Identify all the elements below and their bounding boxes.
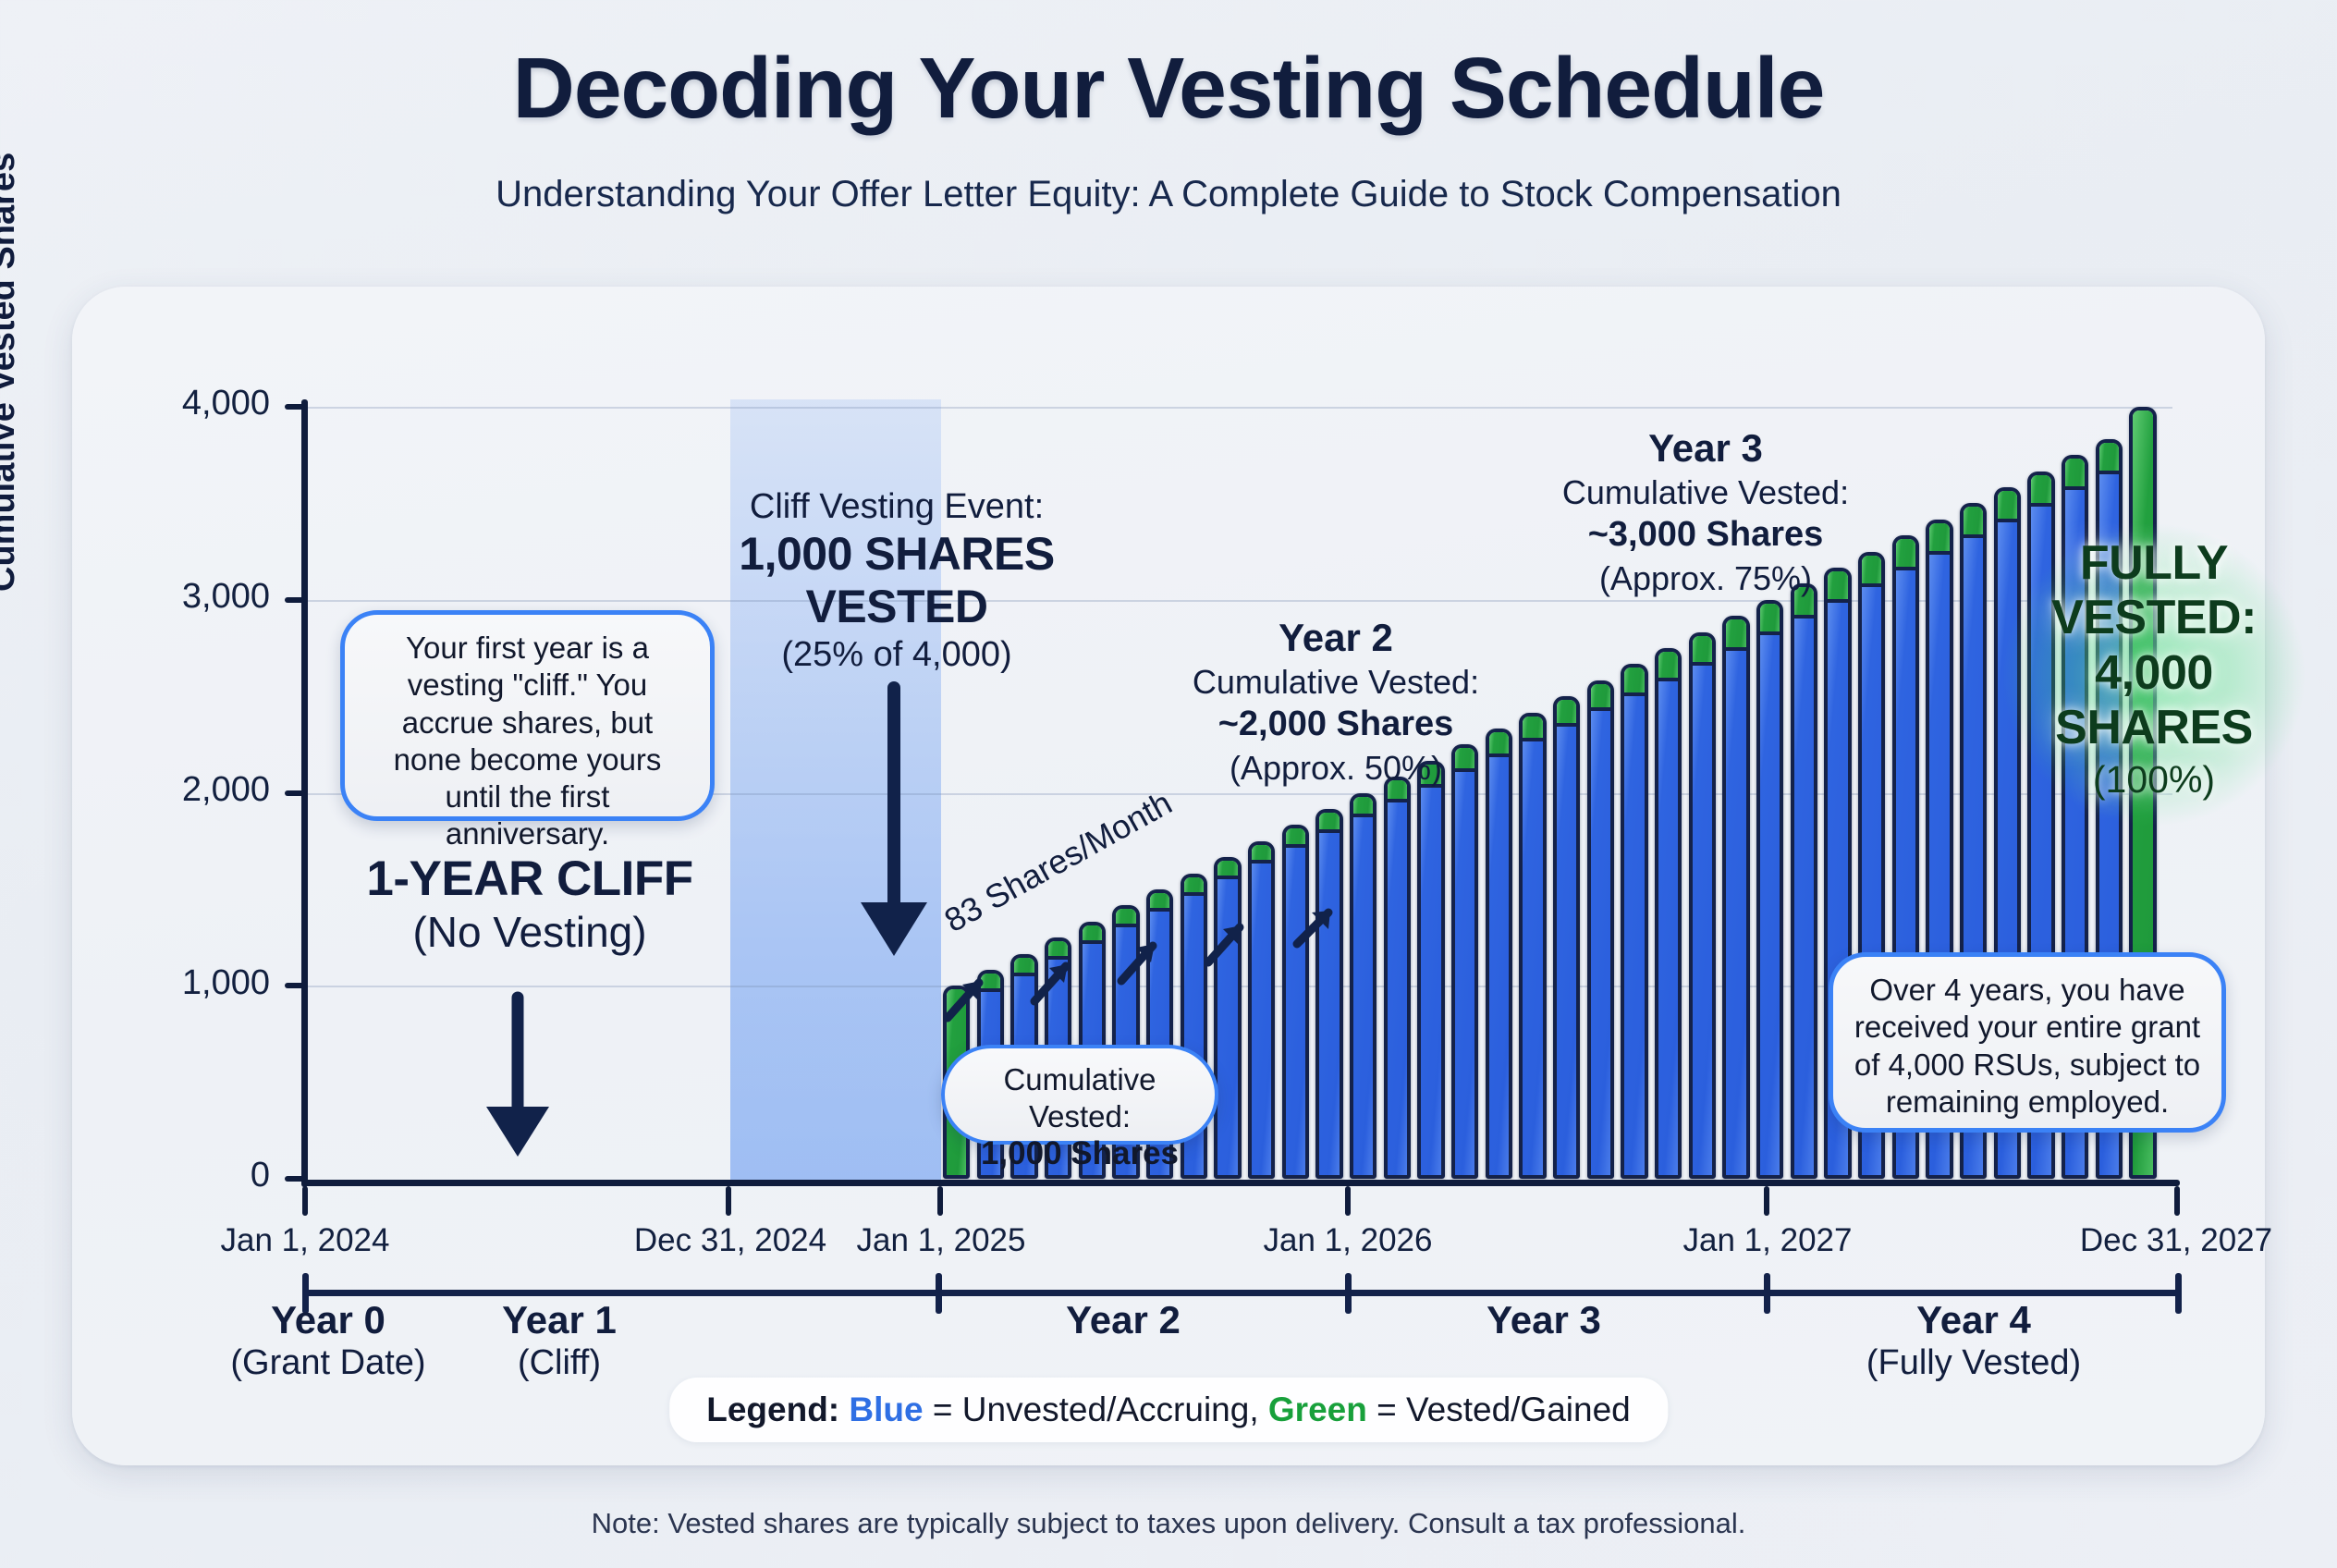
bar-unvested-segment <box>1591 704 1610 1175</box>
fully-line2: VESTED: <box>2015 591 2293 645</box>
year3-heading: Year 3 <box>1525 425 1886 472</box>
fully-pct: (100%) <box>2015 755 2293 804</box>
cliff-event-sub: (25% of 4,000) <box>703 633 1091 676</box>
bar-vested-segment <box>1760 604 1780 635</box>
timeline-cap-end <box>2175 1273 2182 1314</box>
x-tick-jan-2025 <box>937 1186 943 1216</box>
year2-line3: (Approx. 50%) <box>1156 747 1516 789</box>
y-label-3000: 3,000 <box>76 577 270 617</box>
year4-sub: (Fully Vested) <box>1835 1342 2112 1385</box>
bar-may-2026 <box>1486 729 1512 1179</box>
cliff-title: 1-YEAR CLIFF (No Vesting) <box>340 851 719 957</box>
bar-unvested-segment <box>1489 750 1509 1175</box>
cliff-title-line1: 1-YEAR CLIFF <box>340 851 719 907</box>
y-tick-0 <box>285 1176 305 1182</box>
y-axis-title: Cumulative Vested Shares <box>0 153 23 592</box>
vested-pill-line2: 1,000 Shares <box>969 1134 1191 1173</box>
x-tick-jan-2027 <box>1764 1186 1769 1216</box>
timeline-label-year0: Year 0 (Grant Date) <box>194 1298 462 1385</box>
timeline-segment-left <box>302 1290 938 1296</box>
bar-vested-segment <box>1929 523 1949 555</box>
bar-vested-segment <box>2031 475 2050 507</box>
bar-nov-2026 <box>1689 632 1716 1179</box>
vested-pill-line1: Cumulative Vested: <box>969 1061 1191 1134</box>
x-axis-line <box>301 1180 2180 1186</box>
bar-vested-segment <box>1353 797 1373 818</box>
bar-unvested-segment <box>1693 658 1712 1175</box>
year3-line2: ~3,000 Shares <box>1525 513 1886 557</box>
bar-oct-2026 <box>1655 648 1682 1179</box>
timeline-label-year4: Year 4 (Fully Vested) <box>1835 1298 2112 1385</box>
bar-vested-segment <box>1896 539 1915 570</box>
cliff-down-arrow-icon <box>462 994 573 1160</box>
x-tick-dec-2027 <box>2174 1186 2180 1216</box>
cumulative-vested-pill: Cumulative Vested: 1,000 Shares <box>941 1045 1218 1145</box>
x-label-jan-2027: Jan 1, 2027 <box>1629 1222 1906 1259</box>
bar-vested-segment <box>1998 491 2017 522</box>
chart-legend: Legend: Blue = Unvested/Accruing, Green … <box>669 1378 1668 1442</box>
bar-unvested-segment <box>1624 689 1644 1175</box>
bar-vested-segment <box>1591 684 1610 712</box>
bar-unvested-segment <box>1726 643 1745 1175</box>
legend-blue-word: Blue <box>849 1390 923 1428</box>
x-tick-jan-2024 <box>302 1186 308 1216</box>
fully-line3: 4,000 <box>2015 646 2293 701</box>
bar-vested-segment <box>1624 668 1644 696</box>
bar-vested-segment <box>1150 893 1169 912</box>
timeline-cap-y4 <box>1764 1273 1770 1314</box>
x-tick-jan-2026 <box>1345 1186 1351 1216</box>
bar-vested-segment <box>2099 443 2119 474</box>
y-tick-4000 <box>285 404 305 410</box>
bar-aug-2026 <box>1587 680 1614 1179</box>
x-label-jan-2025: Jan 1, 2025 <box>802 1222 1080 1259</box>
year3-line3: (Approx. 75%) <box>1525 557 1886 599</box>
year4-name: Year 4 <box>1835 1298 2112 1342</box>
timeline-cap-y3 <box>1345 1273 1352 1314</box>
year2-annotation: Year 2 Cumulative Vested: ~2,000 Shares … <box>1156 615 1516 789</box>
page-title: Decoding Your Vesting Schedule <box>0 44 2337 132</box>
timeline-label-year2: Year 2 <box>1008 1298 1239 1342</box>
bar-unvested-segment <box>1557 719 1576 1175</box>
bar-vested-segment <box>1319 813 1339 833</box>
infographic-page: Decoding Your Vesting Schedule Understan… <box>0 0 2337 1568</box>
legend-prefix: Legend: <box>706 1390 839 1428</box>
bar-vested-segment <box>2065 459 2085 490</box>
bar-unvested-segment <box>1658 674 1678 1175</box>
monthly-growth-arrows-icon <box>938 911 1456 1031</box>
bar-jul-2026 <box>1553 696 1580 1179</box>
legend-green-rest: = Vested/Gained <box>1377 1390 1631 1428</box>
footer-note: Note: Vested shares are typically subjec… <box>0 1507 2337 1540</box>
x-label-jan-2026: Jan 1, 2026 <box>1209 1222 1487 1259</box>
year1-sub: (Cliff) <box>444 1342 675 1385</box>
year3-annotation: Year 3 Cumulative Vested: ~3,000 Shares … <box>1525 425 1886 599</box>
cliff-event-big-line2: VESTED <box>703 581 1091 633</box>
legend-blue-rest: = Unvested/Accruing, <box>933 1390 1259 1428</box>
fully-line4: SHARES <box>2015 701 2293 755</box>
cliff-event-lead: Cliff Vesting Event: <box>703 485 1091 528</box>
bar-unvested-segment <box>1455 765 1474 1175</box>
bar-jun-2026 <box>1519 713 1546 1179</box>
year3-line1: Cumulative Vested: <box>1525 472 1886 513</box>
bar-vested-segment <box>1286 828 1305 848</box>
bar-sep-2026 <box>1621 664 1647 1179</box>
page-subtitle: Understanding Your Offer Letter Equity: … <box>0 172 2337 216</box>
year2-heading: Year 2 <box>1156 615 1516 661</box>
cliff-event-big-line1: 1,000 SHARES <box>703 528 1091 581</box>
y-label-1000: 1,000 <box>76 963 270 1003</box>
timeline-segment-right <box>937 1290 2182 1296</box>
bar-vested-segment <box>1217 861 1237 879</box>
year2-line1: Cumulative Vested: <box>1156 661 1516 703</box>
bar-vested-segment <box>1726 619 1745 650</box>
bar-vested-segment <box>1658 652 1678 681</box>
bar-unvested-segment <box>1794 611 1814 1175</box>
fully-vested-annotation: FULLY VESTED: 4,000 SHARES (100%) <box>2015 536 2293 804</box>
x-label-dec-2027: Dec 31, 2027 <box>2037 1222 2315 1259</box>
bar-vested-segment <box>1523 717 1542 742</box>
y-label-4000: 4,000 <box>76 384 270 423</box>
bar-vested-segment <box>1252 845 1271 864</box>
year3-name: Year 3 <box>1428 1298 1659 1342</box>
bar-vested-segment <box>1184 877 1204 896</box>
timeline-cap-y2 <box>936 1273 942 1314</box>
year1-name: Year 1 <box>444 1298 675 1342</box>
bar-unvested-segment <box>1760 628 1780 1175</box>
final-summary-callout: Over 4 years, you have received your ent… <box>1829 952 2226 1133</box>
year0-name: Year 0 <box>194 1298 462 1342</box>
bar-vested-segment <box>1693 636 1712 667</box>
year0-sub: (Grant Date) <box>194 1342 462 1385</box>
y-label-0: 0 <box>76 1156 270 1195</box>
y-tick-1000 <box>285 983 305 988</box>
year2-line2: ~2,000 Shares <box>1156 703 1516 747</box>
x-label-jan-2024: Jan 1, 2024 <box>166 1222 444 1259</box>
cliff-vesting-event-annotation: Cliff Vesting Event: 1,000 SHARES VESTED… <box>703 485 1091 677</box>
bar-unvested-segment <box>1523 734 1542 1175</box>
y-label-2000: 2,000 <box>76 770 270 810</box>
y-tick-2000 <box>285 790 305 796</box>
timeline-label-year1: Year 1 (Cliff) <box>444 1298 675 1385</box>
cliff-title-line2: (No Vesting) <box>340 907 719 957</box>
timeline-label-year3: Year 3 <box>1428 1298 1659 1342</box>
bar-feb-2027 <box>1791 583 1817 1179</box>
bar-jan-2027 <box>1756 600 1783 1179</box>
legend-green-word: Green <box>1268 1390 1367 1428</box>
bar-vested-segment <box>1964 507 1983 538</box>
year2-name: Year 2 <box>1008 1298 1239 1342</box>
bar-vested-segment <box>1557 700 1576 727</box>
y-tick-3000 <box>285 597 305 603</box>
cliff-explanation-callout: Your first year is a vesting "cliff." Yo… <box>340 610 715 821</box>
fully-line1: FULLY <box>2015 536 2293 591</box>
x-tick-dec-2024 <box>726 1186 731 1216</box>
bar-dec-2026 <box>1722 616 1749 1179</box>
